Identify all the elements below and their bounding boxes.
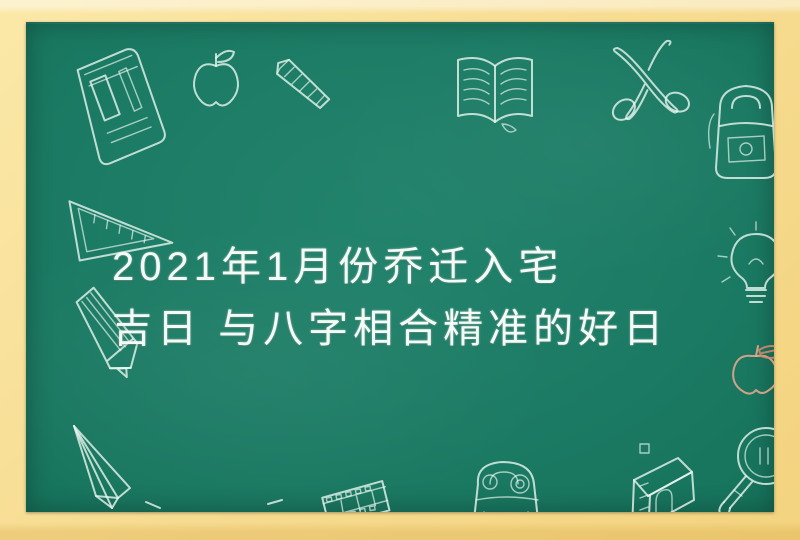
film-strip-icon [317,478,395,512]
apple-leaf-icon [726,340,774,398]
headline-line-2: 吉日 与八字相合精准的好日 [112,298,714,360]
chalkboard: 2021年1月份乔迁入宅 吉日 与八字相合精准的好日 [26,22,774,512]
magnifier-icon [716,422,774,512]
lightbulb-icon [716,218,774,310]
scissors-icon [601,35,695,126]
wooden-frame: 2021年1月份乔迁入宅 吉日 与八字相合精准的好日 [0,0,800,540]
backpack-icon [702,74,774,184]
apple-icon [186,46,246,112]
stapler-icon [618,440,704,512]
crayon-icon [260,44,350,121]
satchel-icon [458,454,554,512]
open-book-icon [450,44,540,140]
headline-line-1: 2021年1月份乔迁入宅 [112,236,714,298]
notebook-icon [61,37,180,174]
page-title: 2021年1月份乔迁入宅 吉日 与八字相合精准的好日 [112,236,714,360]
paper-plane-icon [68,422,298,512]
